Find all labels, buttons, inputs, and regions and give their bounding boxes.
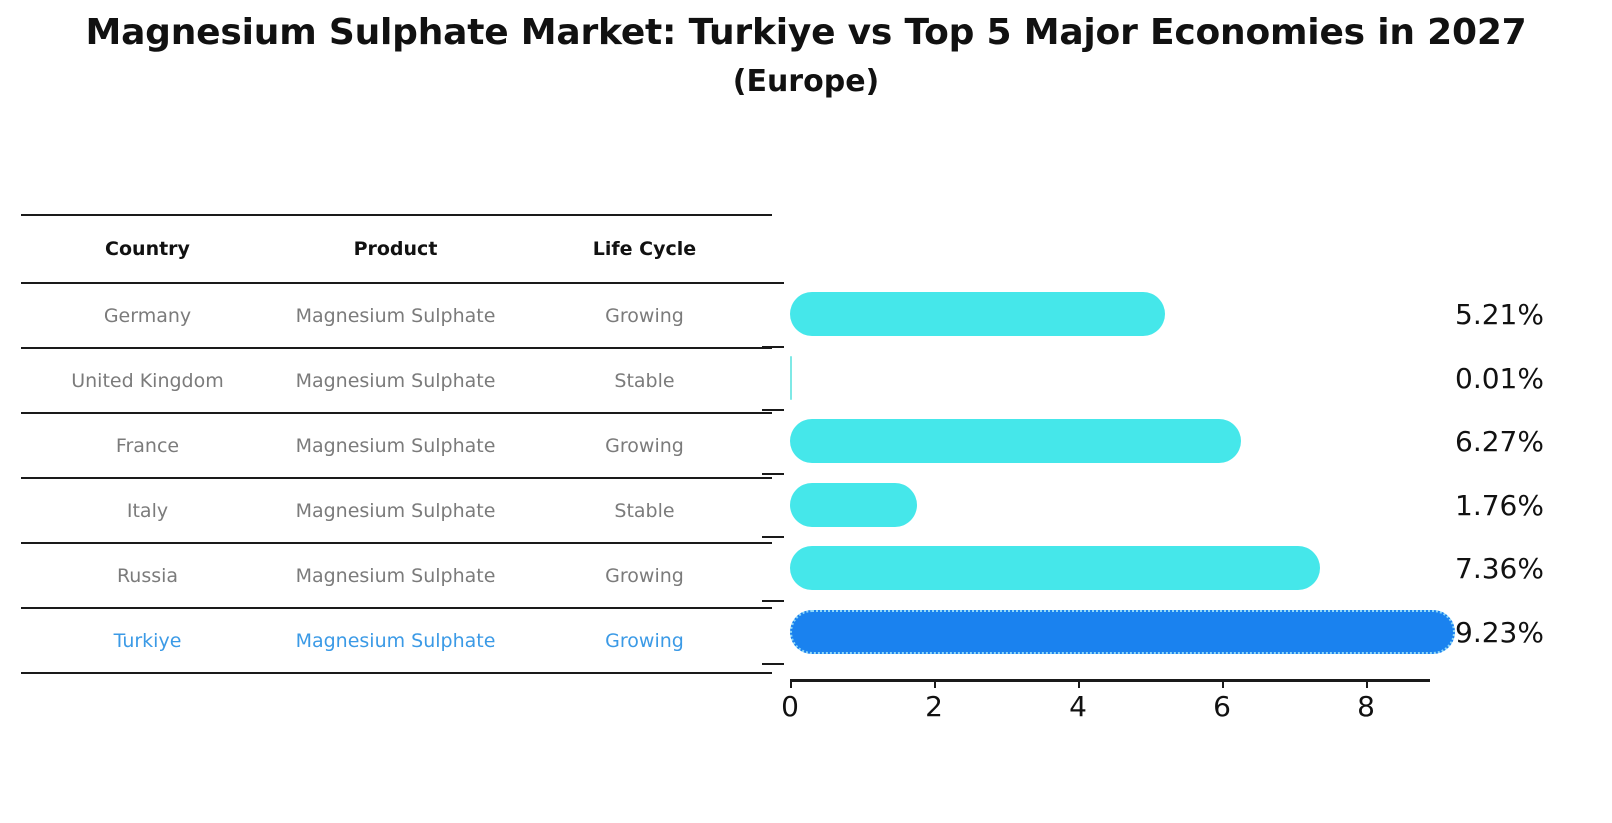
table-rule-bottom	[21, 672, 772, 674]
plot-area: 5.21%0.01%6.27%1.76%7.36%9.23%	[790, 282, 1450, 680]
bar[interactable]	[790, 546, 1320, 590]
title-block: Magnesium Sulphate Market: Turkiye vs To…	[0, 10, 1612, 101]
bar-highlighted[interactable]	[790, 610, 1455, 654]
country-table: Country Product Life Cycle Germany Magne…	[21, 214, 772, 674]
cell-product: Magnesium Sulphate	[274, 305, 517, 327]
x-axis-tick	[1078, 679, 1080, 688]
table-row[interactable]: United Kingdom Magnesium Sulphate Stable	[21, 349, 772, 412]
bar-slot: 6.27%	[790, 409, 1450, 472]
table-row[interactable]: Germany Magnesium Sulphate Growing	[21, 284, 772, 347]
cell-product: Magnesium Sulphate	[274, 435, 517, 457]
x-axis-tick-label: 8	[1357, 690, 1375, 723]
cell-country: Russia	[21, 565, 274, 587]
x-axis-tick	[1366, 679, 1368, 688]
cell-product: Magnesium Sulphate	[274, 630, 517, 652]
cell-life-cycle: Growing	[517, 630, 772, 652]
x-axis-tick	[790, 679, 792, 688]
bar-value-label: 9.23%	[1455, 616, 1544, 649]
bar[interactable]	[790, 483, 917, 527]
cell-country: France	[21, 435, 274, 457]
bar-slot: 1.76%	[790, 473, 1450, 536]
table-header-row: Country Product Life Cycle	[21, 216, 772, 282]
column-header-life-cycle: Life Cycle	[517, 238, 772, 260]
x-axis-tick	[934, 679, 936, 688]
table-row[interactable]: Italy Magnesium Sulphate Stable	[21, 479, 772, 542]
x-axis-tick-label: 0	[781, 690, 799, 723]
column-header-country: Country	[21, 238, 274, 260]
cell-life-cycle: Growing	[517, 305, 772, 327]
table-row[interactable]: France Magnesium Sulphate Growing	[21, 414, 772, 477]
bar-value-label: 7.36%	[1455, 552, 1544, 585]
page-title: Magnesium Sulphate Market: Turkiye vs To…	[0, 10, 1612, 56]
cell-life-cycle: Growing	[517, 435, 772, 457]
bar-value-label: 5.21%	[1455, 298, 1544, 331]
bar-value-label: 0.01%	[1455, 362, 1544, 395]
x-axis-tick-label: 6	[1213, 690, 1231, 723]
page-subtitle: (Europe)	[0, 62, 1612, 101]
bar-slot: 5.21%	[790, 282, 1450, 345]
bar[interactable]	[790, 419, 1241, 463]
cell-product: Magnesium Sulphate	[274, 500, 517, 522]
bar-slot: 9.23%	[790, 600, 1450, 663]
bar-value-label: 1.76%	[1455, 489, 1544, 522]
cell-life-cycle: Stable	[517, 370, 772, 392]
cell-product: Magnesium Sulphate	[274, 370, 517, 392]
bar[interactable]	[790, 356, 792, 400]
x-axis-tick-label: 4	[1069, 690, 1087, 723]
cell-country: Italy	[21, 500, 274, 522]
cell-life-cycle: Growing	[517, 565, 772, 587]
x-axis-tick-label: 2	[925, 690, 943, 723]
bar[interactable]	[790, 292, 1165, 336]
cell-product: Magnesium Sulphate	[274, 565, 517, 587]
cell-country: Turkiye	[21, 630, 274, 652]
bar-slot: 0.01%	[790, 346, 1450, 409]
x-axis-tick	[1222, 679, 1224, 688]
bar-value-label: 6.27%	[1455, 425, 1544, 458]
cell-country: United Kingdom	[21, 370, 274, 392]
table-row[interactable]: Russia Magnesium Sulphate Growing	[21, 544, 772, 607]
cell-country: Germany	[21, 305, 274, 327]
column-header-product: Product	[274, 238, 517, 260]
table-row-highlighted[interactable]: Turkiye Magnesium Sulphate Growing	[21, 609, 772, 672]
bar-slot: 7.36%	[790, 536, 1450, 599]
x-axis-line	[790, 679, 1430, 682]
cell-life-cycle: Stable	[517, 500, 772, 522]
